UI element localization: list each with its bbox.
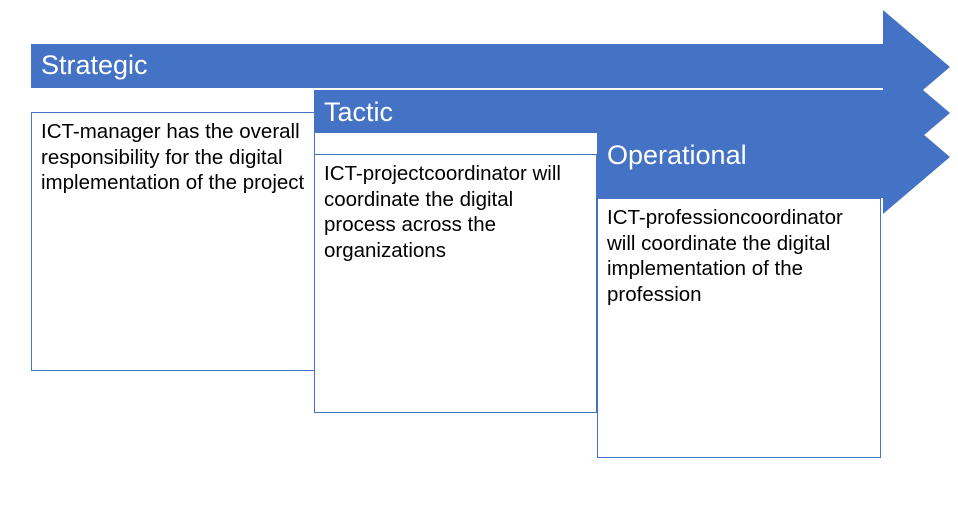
description-text-operational: ICT-professioncoordinator will coordinat… [607, 205, 872, 307]
description-text-strategic: ICT-manager has the overall responsibili… [41, 119, 306, 196]
description-card-strategic[interactable]: ICT-manager has the overall responsibili… [31, 112, 315, 371]
arrow-label-operational: Operational [607, 142, 747, 169]
description-card-operational[interactable]: ICT-professioncoordinator will coordinat… [597, 198, 881, 458]
description-card-tactic[interactable]: ICT-projectcoordinator will coordinate t… [314, 154, 597, 413]
description-text-tactic: ICT-projectcoordinator will coordinate t… [324, 161, 588, 263]
process-arrow-diagram: Strategic Tactic Operational ICT-manager… [0, 0, 958, 513]
arrow-label-tactic: Tactic [324, 99, 393, 126]
arrow-label-strategic: Strategic [41, 52, 148, 79]
